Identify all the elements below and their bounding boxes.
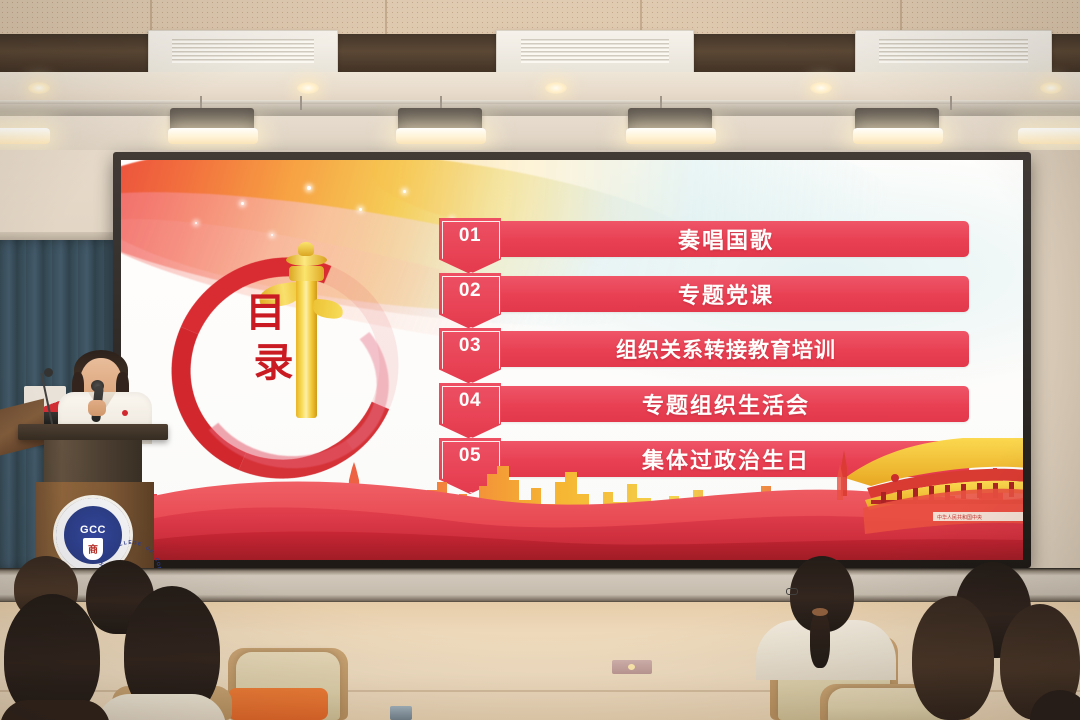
agenda-item-badge: 03	[439, 328, 501, 384]
speaker-hand	[88, 400, 106, 416]
audience-head	[912, 596, 994, 720]
toc-title-char-1: 目	[223, 288, 309, 338]
agenda-item-badge: 01	[439, 218, 501, 274]
sparkle-icon	[307, 186, 311, 190]
ceiling-panel	[0, 0, 1080, 34]
emblem-ring-char: L	[123, 540, 127, 546]
agenda-item[interactable]: 专题组织生活会 04	[439, 383, 969, 427]
podium-top	[18, 424, 168, 440]
stage-light-lamp	[396, 128, 486, 144]
svg-text:中华人民共和国中央: 中华人民共和国中央	[937, 514, 982, 521]
stage-light-lamp	[853, 128, 943, 144]
agenda-item-label: 专题组织生活会	[483, 386, 969, 422]
ceiling-perforation-texture	[0, 0, 1080, 34]
recessed-downlight	[28, 82, 50, 94]
agenda-item-label: 专题党课	[483, 276, 969, 312]
emblem-shield-icon: 商	[83, 538, 103, 560]
stage-light-lamp	[168, 128, 258, 144]
agenda-item-badge: 04	[439, 383, 501, 439]
air-vent	[855, 30, 1052, 74]
agenda-item-number: 02	[459, 280, 481, 302]
slide-footer-graphics: 中华人民共和国中央	[121, 434, 1023, 560]
recessed-downlight	[810, 82, 832, 94]
recessed-downlight	[1040, 82, 1062, 94]
table-of-contents-emblem: 目 录	[163, 248, 393, 453]
eyeglasses-icon	[786, 588, 798, 595]
recessed-downlight	[297, 82, 319, 94]
lecture-hall-scene: 目 录 奏唱国歌 01 专题党课	[0, 0, 1080, 720]
stage-light-lamp	[626, 128, 716, 144]
audience-ponytail	[810, 612, 830, 668]
emblem-abbreviation: GCC	[80, 524, 106, 536]
smartphone	[390, 706, 412, 720]
sparkle-icon	[241, 202, 244, 205]
air-vent	[496, 30, 694, 74]
agenda-item-number: 04	[459, 390, 481, 412]
sparkle-icon	[271, 234, 273, 236]
air-vent	[148, 30, 338, 74]
emblem-shield-char: 商	[88, 541, 98, 556]
agenda-item[interactable]: 专题党课 02	[439, 273, 969, 317]
auditorium-chair-seat	[228, 688, 328, 720]
agenda-item[interactable]: 奏唱国歌 01	[439, 218, 969, 262]
audience-shoulders	[96, 694, 226, 720]
stage-light-lamp	[0, 128, 50, 144]
tiananmen-gate-icon: 中华人民共和国中央	[837, 438, 1023, 534]
agenda-item-label: 组织关系转接教育培训	[483, 331, 969, 367]
audience-shoulders	[0, 700, 110, 720]
emblem-ring-char: L	[118, 541, 123, 548]
led-screen-display: 目 录 奏唱国歌 01 专题党课	[121, 160, 1023, 560]
floor-marker	[612, 660, 652, 674]
agenda-item[interactable]: 组织关系转接教育培训 03	[439, 328, 969, 372]
agenda-item-number: 03	[459, 335, 481, 357]
sparkle-icon	[359, 208, 362, 211]
hair-tie-icon	[812, 608, 828, 616]
sparkle-icon	[195, 222, 197, 224]
table-of-contents-title: 目 录	[223, 288, 309, 388]
toc-title-char-2: 录	[239, 338, 309, 388]
led-screen-bezel: 目 录 奏唱国歌 01 专题党课	[113, 152, 1031, 568]
agenda-item-label: 奏唱国歌	[483, 221, 969, 257]
emblem-ring-char: E	[128, 540, 131, 546]
recessed-downlight	[545, 82, 567, 94]
stage-light-lamp	[1018, 128, 1080, 144]
party-pin-icon	[122, 410, 128, 416]
agenda-item-number: 01	[459, 225, 481, 247]
gooseneck-mic-head	[44, 368, 53, 377]
sparkle-icon	[403, 190, 406, 193]
agenda-item-badge: 02	[439, 273, 501, 329]
